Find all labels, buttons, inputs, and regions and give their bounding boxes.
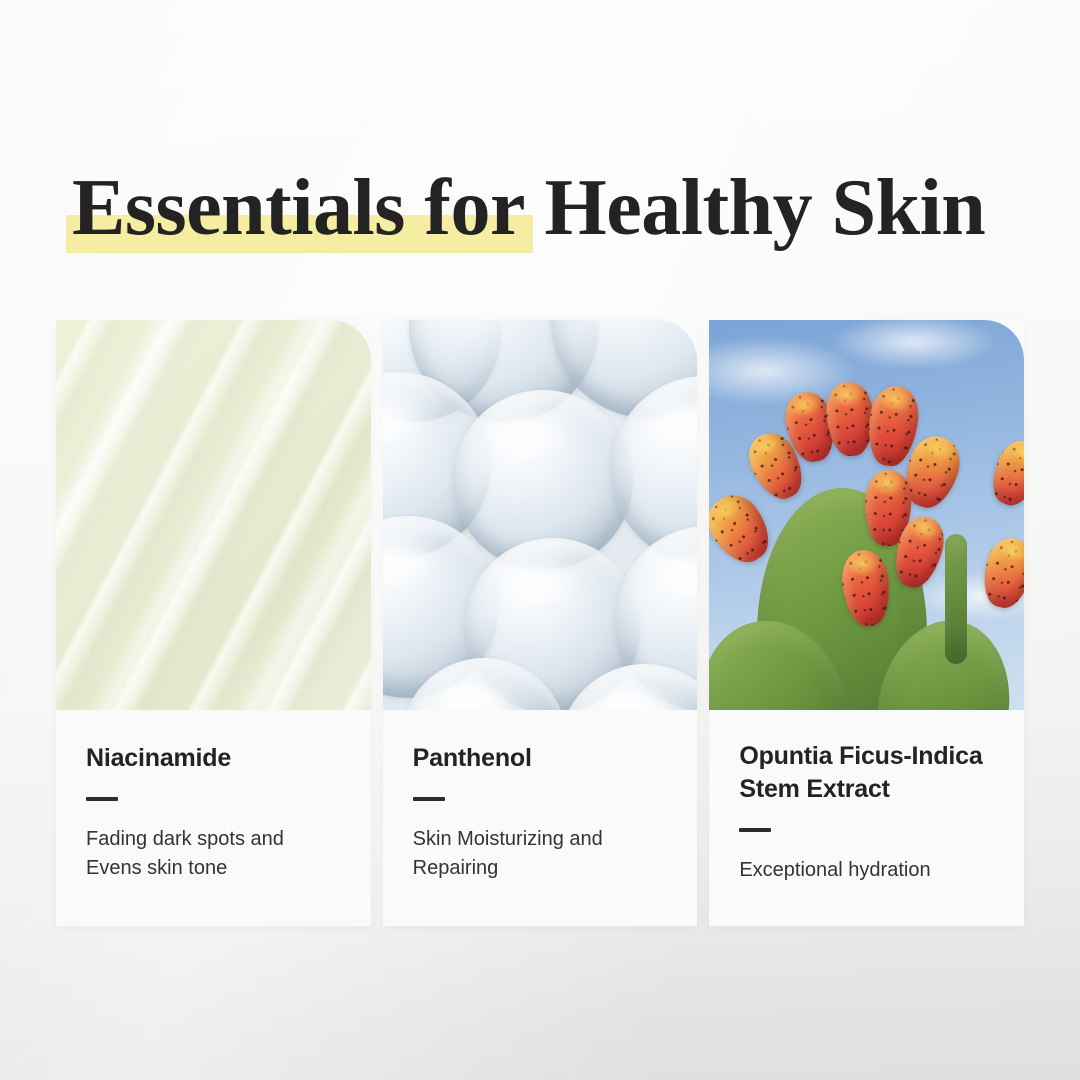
card-description: Fading dark spots and Evens skin tone	[86, 825, 341, 883]
ingredient-card-niacinamide[interactable]: Niacinamide Fading dark spots and Evens …	[56, 320, 371, 926]
card-body: Opuntia Ficus-Indica Stem Extract Except…	[709, 710, 1024, 926]
cactus-pad-icon	[945, 534, 967, 664]
ingredient-card-panthenol[interactable]: Panthenol Skin Moisturizing and Repairin…	[383, 320, 698, 926]
page-title-highlighted-text: Essentials for	[72, 168, 525, 248]
card-divider-rule	[413, 797, 445, 801]
ingredient-card-opuntia-ficus-indica[interactable]: Opuntia Ficus-Indica Stem Extract Except…	[709, 320, 1024, 926]
water-bubbles-photo	[383, 320, 698, 710]
card-divider-rule	[86, 797, 118, 801]
page-title-text: Essentials for Healthy Skin	[72, 168, 1012, 248]
prickly-pear-cactus-photo	[709, 320, 1024, 710]
card-title: Niacinamide	[86, 742, 341, 775]
card-image-prickly-pear-cactus	[709, 320, 1024, 710]
ingredient-card-list: Niacinamide Fading dark spots and Evens …	[56, 320, 1024, 926]
card-image-water-bubbles	[383, 320, 698, 710]
card-description: Skin Moisturizing and Repairing	[413, 825, 668, 883]
card-divider-rule	[739, 828, 771, 832]
card-body: Niacinamide Fading dark spots and Evens …	[56, 710, 371, 926]
card-description: Exceptional hydration	[739, 856, 994, 885]
cactus-fruit-icon	[825, 380, 876, 457]
card-title: Opuntia Ficus-Indica Stem Extract	[739, 740, 994, 806]
card-image-cream-texture	[56, 320, 371, 710]
card-body: Panthenol Skin Moisturizing and Repairin…	[383, 710, 698, 926]
page-title-rest-text: Healthy Skin	[525, 164, 985, 252]
cactus-fruit-icon	[985, 434, 1024, 512]
cream-texture-swatch	[56, 320, 371, 710]
page-title: Essentials for Healthy Skin	[72, 168, 1012, 248]
card-title: Panthenol	[413, 742, 668, 775]
ingredient-highlights-poster: Essentials for Healthy Skin Niacinamide …	[0, 0, 1080, 1080]
